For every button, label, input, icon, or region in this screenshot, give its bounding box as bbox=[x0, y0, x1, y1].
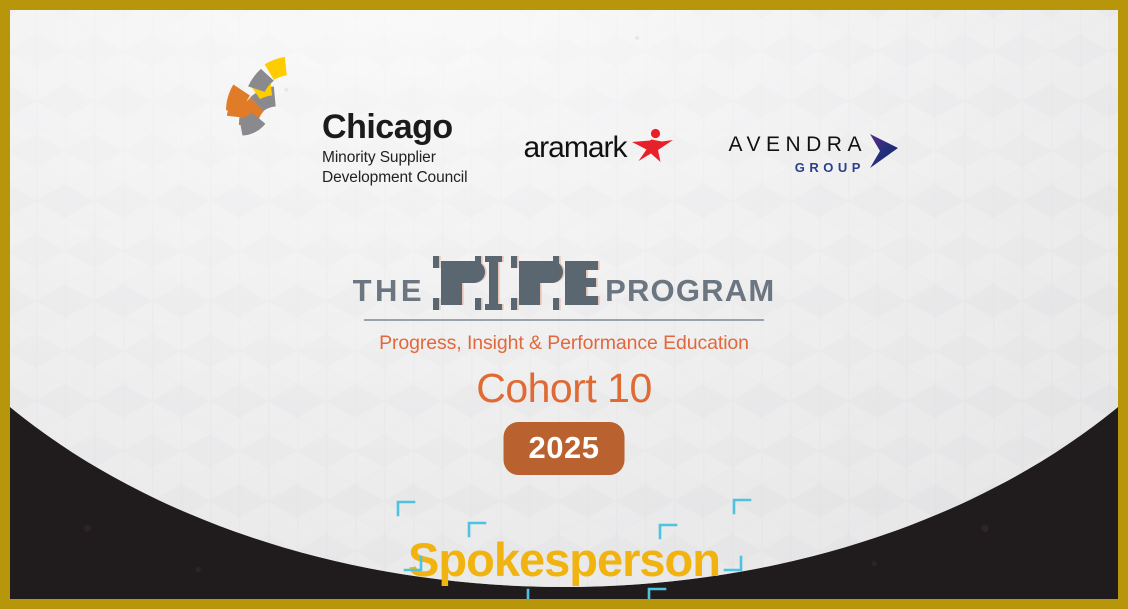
corner-bracket-decoration bbox=[658, 522, 678, 540]
chicago-title: Chicago bbox=[322, 110, 467, 144]
chicago-msdc-logo: Chicago Minority Supplier Development Co… bbox=[226, 36, 467, 188]
corner-bracket-decoration bbox=[732, 497, 752, 515]
pipe-acronym-pipes-icon bbox=[429, 254, 601, 312]
avendra-arrow-icon bbox=[868, 130, 902, 172]
aramark-logo: aramark bbox=[523, 132, 672, 164]
cohort-title: Cohort 10 bbox=[10, 365, 1118, 412]
spokesperson-title: Spokesperson bbox=[10, 532, 1118, 587]
avendra-wordmark-block: AVENDRA GROUP bbox=[729, 134, 867, 174]
pipe-tagline: Progress, Insight & Performance Educatio… bbox=[10, 332, 1118, 355]
chicago-msdc-wordmark: Chicago Minority Supplier Development Co… bbox=[322, 110, 467, 188]
aramark-wordmark: aramark bbox=[523, 133, 626, 163]
corner-bracket-decoration bbox=[396, 499, 416, 517]
chicago-subtitle: Minority Supplier Development Council bbox=[322, 148, 467, 188]
avendra-group-logo: AVENDRA GROUP bbox=[729, 134, 902, 174]
avendra-group-subword: GROUP bbox=[795, 161, 865, 174]
pipe-the-label: THE bbox=[353, 275, 426, 312]
corner-bracket-decoration bbox=[510, 588, 530, 606]
sponsor-logo-row: Chicago Minority Supplier Development Co… bbox=[10, 36, 1118, 188]
slide-content: Chicago Minority Supplier Development Co… bbox=[10, 10, 1118, 599]
pipe-divider-rule bbox=[364, 319, 764, 321]
aramark-star-figure-icon bbox=[629, 128, 673, 164]
chicago-fan-mark-icon bbox=[226, 44, 318, 136]
corner-bracket-decoration bbox=[403, 555, 423, 573]
pipe-program-label: PROGRAM bbox=[605, 275, 775, 312]
corner-bracket-decoration bbox=[647, 586, 667, 604]
avendra-wordmark: AVENDRA bbox=[729, 134, 867, 155]
pipe-program-lockup: THE bbox=[10, 254, 1118, 312]
corner-bracket-decoration bbox=[467, 520, 487, 538]
year-badge: 2025 bbox=[504, 422, 625, 475]
pipe-program-logo: THE bbox=[10, 254, 1118, 355]
chicago-subtitle-line-1: Minority Supplier bbox=[322, 148, 467, 168]
presentation-slide: Chicago Minority Supplier Development Co… bbox=[0, 0, 1128, 609]
corner-bracket-decoration bbox=[723, 555, 743, 573]
chicago-subtitle-line-2: Development Council bbox=[322, 168, 467, 188]
